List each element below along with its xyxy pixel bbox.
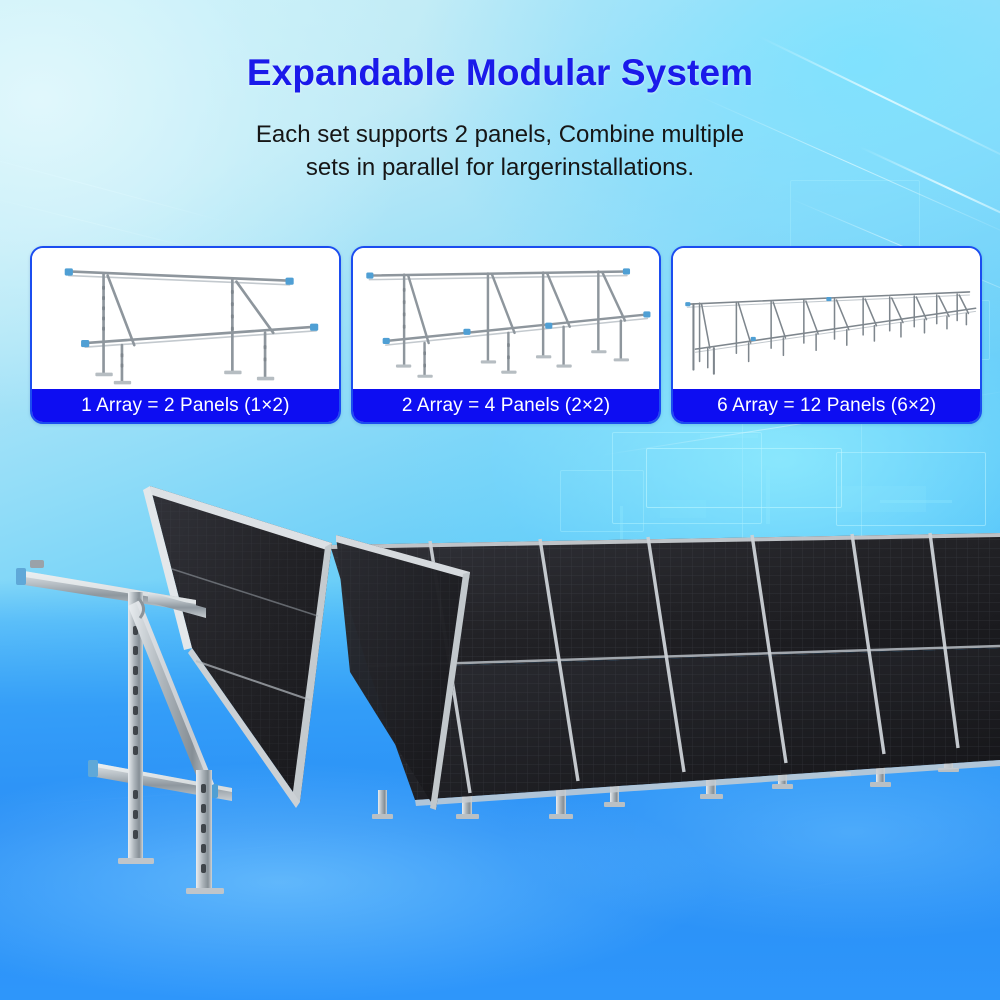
ground-plane [0, 580, 1000, 1000]
ground-reflection [0, 580, 1000, 1000]
configuration-card-1-array[interactable]: 1 Array = 2 Panels (1×2) [30, 246, 341, 424]
promo-banner: Expandable Modular System Each set suppo… [0, 0, 1000, 1000]
page-title: Expandable Modular System [0, 52, 1000, 94]
configuration-card-2-label: 2 Array = 4 Panels (2×2) [353, 389, 660, 422]
configuration-card-1-label: 1 Array = 2 Panels (1×2) [32, 389, 339, 422]
configuration-card-list: 1 Array = 2 Panels (1×2) [30, 246, 982, 424]
page-subtitle-line-2: sets in parallel for largerinstallations… [180, 151, 820, 184]
configuration-card-6-label: 6 Array = 12 Panels (6×2) [673, 389, 980, 422]
page-subtitle-line-1: Each set supports 2 panels, Combine mult… [180, 118, 820, 151]
rack-6-array-diagram [673, 248, 980, 389]
configuration-card-2-array[interactable]: 2 Array = 4 Panels (2×2) [351, 246, 662, 424]
rack-1-array-diagram [32, 248, 339, 389]
rack-2-array-diagram [353, 248, 660, 389]
page-subtitle: Each set supports 2 panels, Combine mult… [180, 118, 820, 184]
configuration-card-6-array[interactable]: 6 Array = 12 Panels (6×2) [671, 246, 982, 424]
